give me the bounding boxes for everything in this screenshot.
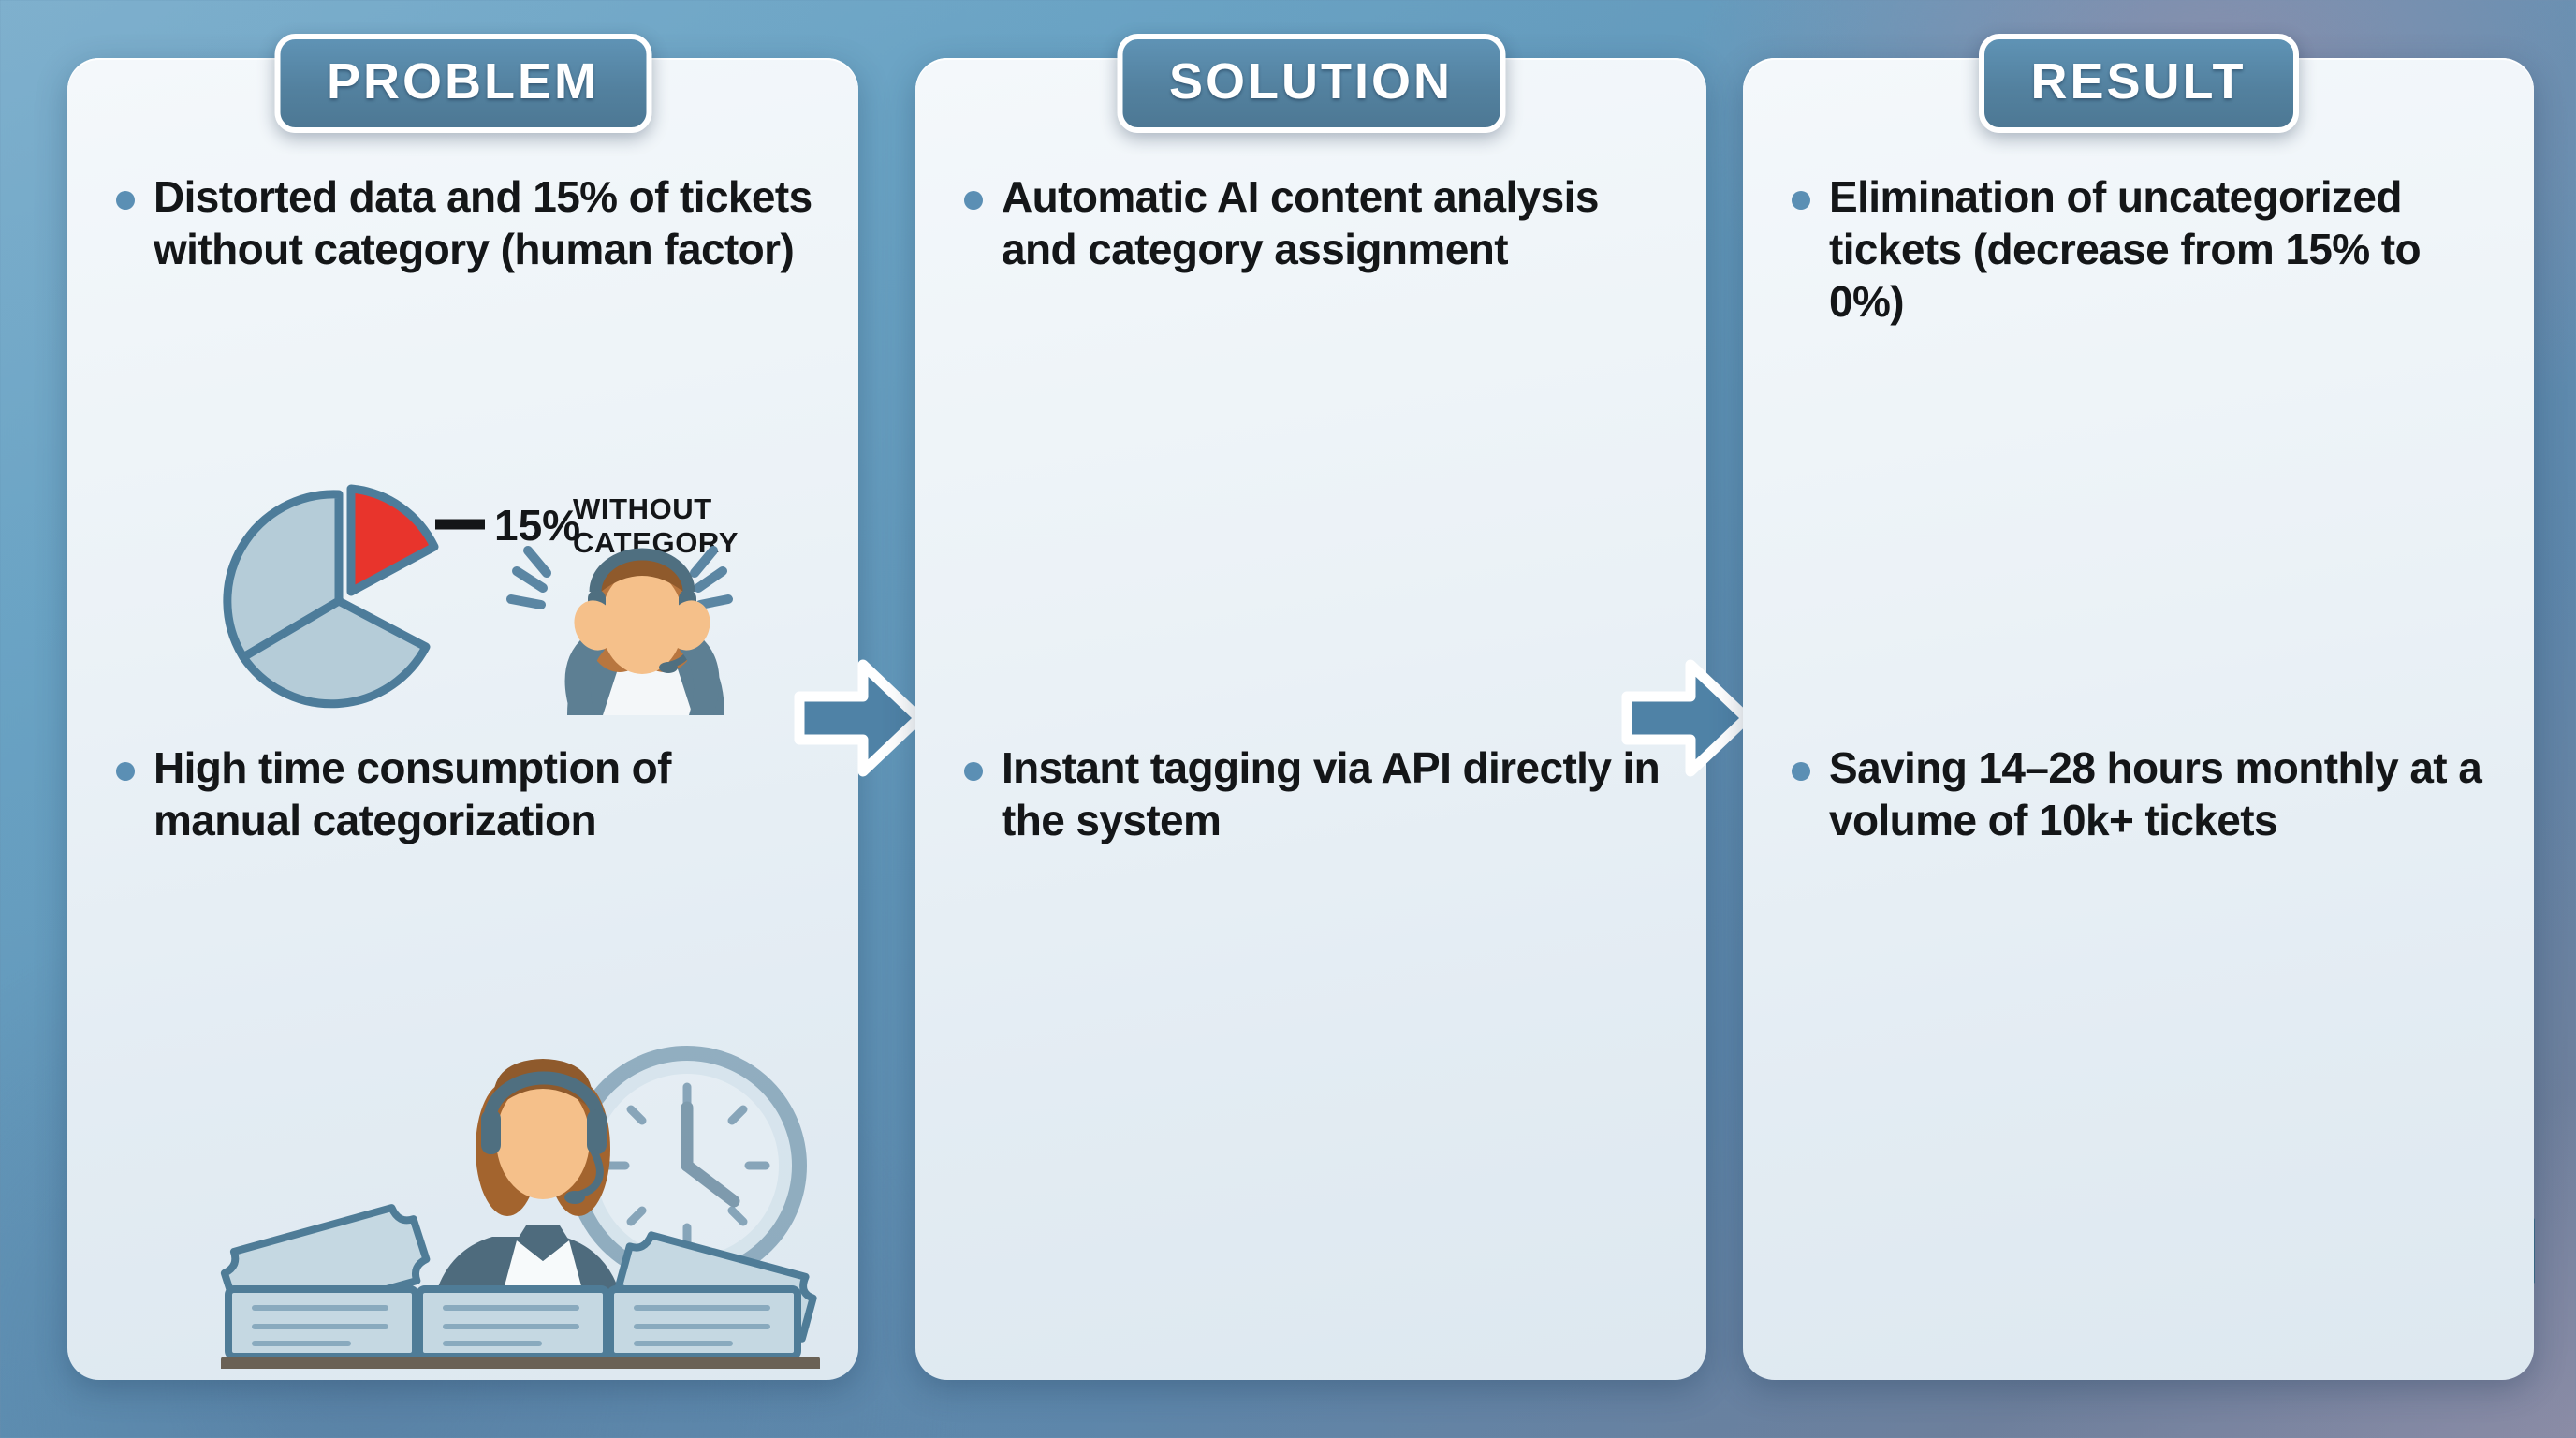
- column-badge-result: RESULT: [1979, 34, 2299, 133]
- connector-problem-to-solution: [794, 650, 925, 786]
- stressed-support-agent-icon: [511, 550, 728, 715]
- bullet-text: Automatic AI content analysis and catego…: [1002, 170, 1669, 275]
- solution-bullet-list: Automatic AI content analysis and catego…: [964, 170, 1669, 285]
- pie-chart-illustration: 15% WITHOUT CATEGORY: [198, 461, 854, 723]
- bullet-text: Saving 14–28 hours monthly at a volume o…: [1829, 741, 2496, 846]
- solution-bullet-list-2: Instant tagging via API directly in the …: [964, 741, 1669, 856]
- list-item: Automatic AI content analysis and catego…: [964, 170, 1669, 275]
- arrow-right-icon: [1621, 650, 1752, 786]
- list-item: Elimination of uncategorized tickets (de…: [1792, 170, 2496, 328]
- connector-solution-to-result: [1621, 650, 1752, 786]
- bullet-text: High time consumption of manual categori…: [154, 741, 821, 846]
- column-problem: PROBLEM Distorted data and 15% of ticket…: [67, 58, 858, 1380]
- pie-chart-svg: 15% WITHOUT CATEGORY: [198, 461, 854, 723]
- bullet-dot-icon: [964, 762, 983, 781]
- pie-icon: [227, 489, 434, 704]
- bullet-dot-icon: [964, 191, 983, 210]
- bullet-text: Distorted data and 15% of tickets withou…: [154, 170, 821, 275]
- bullet-text: Instant tagging via API directly in the …: [1002, 741, 1669, 846]
- desk-surface: [221, 1357, 820, 1369]
- column-result: RESULT Elimination of uncategorized tick…: [1743, 58, 2534, 1380]
- arrow-right-icon: [794, 650, 925, 786]
- infographic-canvas: PROBLEM Distorted data and 15% of ticket…: [0, 0, 2576, 1438]
- bullet-dot-icon: [116, 762, 135, 781]
- overloaded-agent-svg: [208, 1008, 844, 1369]
- pie-callout-label-1: WITHOUT: [573, 492, 712, 525]
- list-item: High time consumption of manual categori…: [116, 741, 821, 846]
- problem-bullet-list: Distorted data and 15% of tickets withou…: [116, 170, 821, 285]
- column-badge-solution: SOLUTION: [1117, 34, 1505, 133]
- column-solution: SOLUTION Automatic AI content analysis a…: [915, 58, 1706, 1380]
- bullet-dot-icon: [1792, 191, 1810, 210]
- result-bullet-list: Elimination of uncategorized tickets (de…: [1792, 170, 2496, 337]
- list-item: Distorted data and 15% of tickets withou…: [116, 170, 821, 275]
- agent-buried-in-tickets-illustration: [208, 1008, 844, 1369]
- bullet-dot-icon: [116, 191, 135, 210]
- problem-bullet-list-2: High time consumption of manual categori…: [116, 741, 821, 856]
- column-badge-problem: PROBLEM: [274, 34, 651, 133]
- list-item: Instant tagging via API directly in the …: [964, 741, 1669, 846]
- list-item: Saving 14–28 hours monthly at a volume o…: [1792, 741, 2496, 846]
- bullet-dot-icon: [1792, 762, 1810, 781]
- pie-callout-value: 15%: [494, 501, 580, 550]
- result-bullet-list-2: Saving 14–28 hours monthly at a volume o…: [1792, 741, 2496, 856]
- bullet-text: Elimination of uncategorized tickets (de…: [1829, 170, 2496, 328]
